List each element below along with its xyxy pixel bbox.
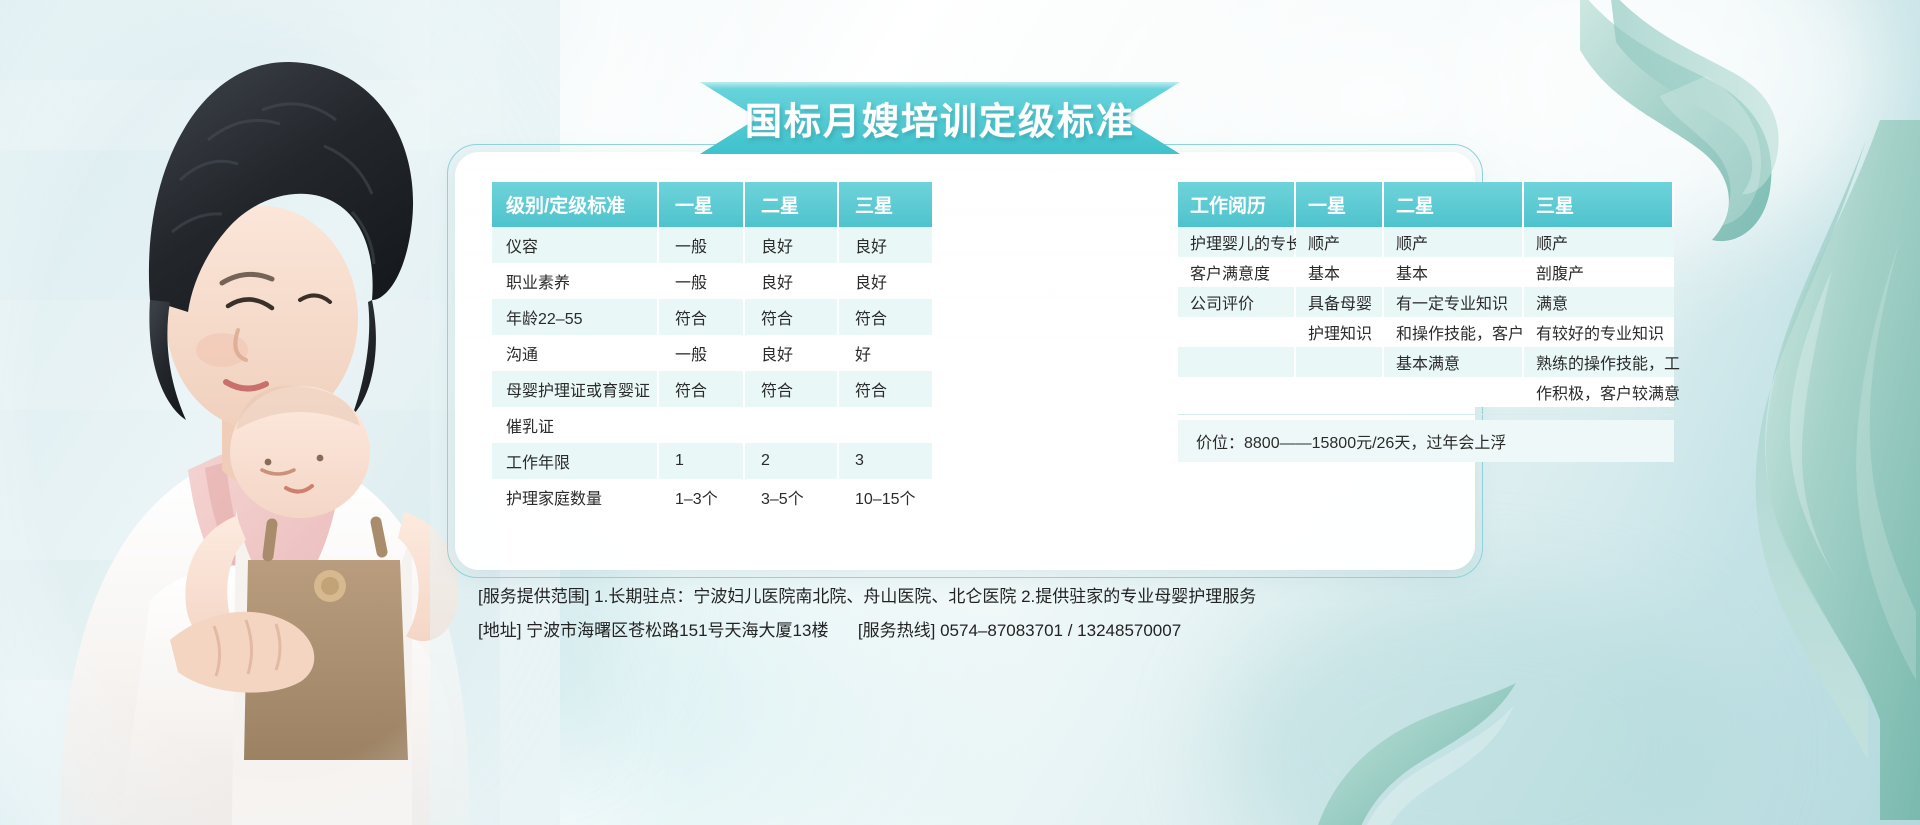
cell-three-star: 顺产 xyxy=(1524,227,1674,257)
cell-two-star: 良好 xyxy=(744,227,838,263)
cell-one-star: 具备母婴 xyxy=(1296,287,1384,317)
col-header-two-star: 二星 xyxy=(744,182,838,227)
cell-one-star: 基本 xyxy=(1296,257,1384,287)
cell-criteria: 催乳证 xyxy=(492,407,658,443)
cell-three-star: 10–15个 xyxy=(838,479,932,515)
cell-three-star: 3 xyxy=(838,443,932,479)
cell-two-star: 良好 xyxy=(744,263,838,299)
table-row: 职业素养 一般 良好 良好 xyxy=(492,263,932,299)
cell-two-star: 良好 xyxy=(744,335,838,371)
cell-one-star: 1 xyxy=(658,443,744,479)
cell-experience xyxy=(1178,317,1296,347)
cell-one-star xyxy=(658,407,744,443)
grading-standard-table-container: 级别/定级标准 一星 二星 三星 仪容 一般 良好 良好 职业素养 一般 良好 … xyxy=(492,182,932,515)
cell-experience xyxy=(1178,377,1296,407)
cell-three-star: 好 xyxy=(838,335,932,371)
cell-two-star xyxy=(1384,377,1524,407)
cell-two-star xyxy=(744,407,838,443)
footer-hotline[interactable]: [服务热线] 0574–87083701 / 13248570007 xyxy=(858,621,1181,640)
ribbon-decoration-bottom xyxy=(1280,625,1540,825)
page-title: 国标月嫂培训定级标准 xyxy=(700,82,1180,154)
cell-one-star: 符合 xyxy=(658,299,744,335)
table-row: 母婴护理证或育婴证 符合 符合 符合 xyxy=(492,371,932,407)
table-row: 仪容 一般 良好 良好 xyxy=(492,227,932,263)
cell-one-star: 顺产 xyxy=(1296,227,1384,257)
cell-one-star xyxy=(1296,347,1384,377)
footer-info: [服务提供范围] 1.长期驻点：宁波妇儿医院南北院、舟山医院、北仑医院 2.提供… xyxy=(478,580,1678,648)
cell-criteria: 母婴护理证或育婴证 xyxy=(492,371,658,407)
cell-two-star: 符合 xyxy=(744,371,838,407)
price-note: 价位：8800——15800元/26天，过年会上浮 xyxy=(1178,420,1674,462)
cell-one-star: 1–3个 xyxy=(658,479,744,515)
table-body: 仪容 一般 良好 良好 职业素养 一般 良好 良好 年龄22–55 符合 符合 … xyxy=(492,227,932,515)
col-header-three-star: 三星 xyxy=(838,182,932,227)
table-row: 沟通 一般 良好 好 xyxy=(492,335,932,371)
cell-three-star: 符合 xyxy=(838,299,932,335)
cell-one-star xyxy=(1296,377,1384,407)
cell-three-star: 作积极，客户较满意 xyxy=(1524,377,1674,407)
col-header-three-star: 三星 xyxy=(1524,182,1674,227)
cell-two-star: 基本满意 xyxy=(1384,347,1524,377)
cell-three-star: 良好 xyxy=(838,263,932,299)
cell-experience: 公司评价 xyxy=(1178,287,1296,317)
cell-three-star: 有较好的专业知识 xyxy=(1524,317,1674,347)
table-row: 护理家庭数量 1–3个 3–5个 10–15个 xyxy=(492,479,932,515)
col-header-one-star: 一星 xyxy=(1296,182,1384,227)
cell-criteria: 工作年限 xyxy=(492,443,658,479)
cell-three-star: 符合 xyxy=(838,371,932,407)
cell-criteria: 仪容 xyxy=(492,227,658,263)
table-row: 工作年限 1 2 3 xyxy=(492,443,932,479)
cell-experience xyxy=(1178,347,1296,377)
cell-one-star: 符合 xyxy=(658,371,744,407)
cell-two-star: 顺产 xyxy=(1384,227,1524,257)
cell-two-star: 有一定专业知识 xyxy=(1384,287,1524,317)
table-header-row: 级别/定级标准 一星 二星 三星 xyxy=(492,182,932,227)
table-row: 年龄22–55 符合 符合 符合 xyxy=(492,299,932,335)
col-header-experience: 工作阅历 xyxy=(1178,182,1296,227)
cell-two-star: 和操作技能，客户 xyxy=(1384,317,1524,347)
cell-criteria: 护理家庭数量 xyxy=(492,479,658,515)
work-experience-table: 工作阅历 一星 二星 三星 护理婴儿的专长 顺产 顺产 顺产 客户满意度 基本 … xyxy=(1178,182,1674,407)
page-title-banner: 国标月嫂培训定级标准 xyxy=(700,82,1180,154)
cell-one-star: 一般 xyxy=(658,227,744,263)
table-header: 级别/定级标准 一星 二星 三星 xyxy=(492,182,932,227)
cell-experience: 护理婴儿的专长 xyxy=(1178,227,1296,257)
cell-three-star xyxy=(838,407,932,443)
cell-one-star: 一般 xyxy=(658,335,744,371)
cell-two-star: 基本 xyxy=(1384,257,1524,287)
cell-criteria: 沟通 xyxy=(492,335,658,371)
cell-three-star: 良好 xyxy=(838,227,932,263)
cell-criteria: 职业素养 xyxy=(492,263,658,299)
cell-two-star: 2 xyxy=(744,443,838,479)
cell-one-star: 护理知识 xyxy=(1296,317,1384,347)
grading-standard-table: 级别/定级标准 一星 二星 三星 仪容 一般 良好 良好 职业素养 一般 良好 … xyxy=(492,182,932,515)
cell-three-star: 满意 xyxy=(1524,287,1674,317)
price-divider xyxy=(1178,414,1674,415)
cell-two-star: 3–5个 xyxy=(744,479,838,515)
work-experience-table-container: 工作阅历 一星 二星 三星 护理婴儿的专长 顺产 顺产 顺产 客户满意度 基本 … xyxy=(1178,182,1450,407)
cell-three-star: 熟练的操作技能，工 xyxy=(1524,347,1674,377)
cell-three-star: 剖腹产 xyxy=(1524,257,1674,287)
footer-service-scope: [服务提供范围] 1.长期驻点：宁波妇儿医院南北院、舟山医院、北仑医院 2.提供… xyxy=(478,580,1678,614)
cell-experience: 客户满意度 xyxy=(1178,257,1296,287)
col-header-two-star: 二星 xyxy=(1384,182,1524,227)
footer-address-line: [地址] 宁波市海曙区苍松路151号天海大厦13楼 [服务热线] 0574–87… xyxy=(478,614,1678,648)
cell-criteria: 年龄22–55 xyxy=(492,299,658,335)
col-header-one-star: 一星 xyxy=(658,182,744,227)
col-header-criteria: 级别/定级标准 xyxy=(492,182,658,227)
cell-one-star: 一般 xyxy=(658,263,744,299)
table-row: 催乳证 xyxy=(492,407,932,443)
cell-two-star: 符合 xyxy=(744,299,838,335)
footer-address: [地址] 宁波市海曙区苍松路151号天海大厦13楼 xyxy=(478,621,828,640)
